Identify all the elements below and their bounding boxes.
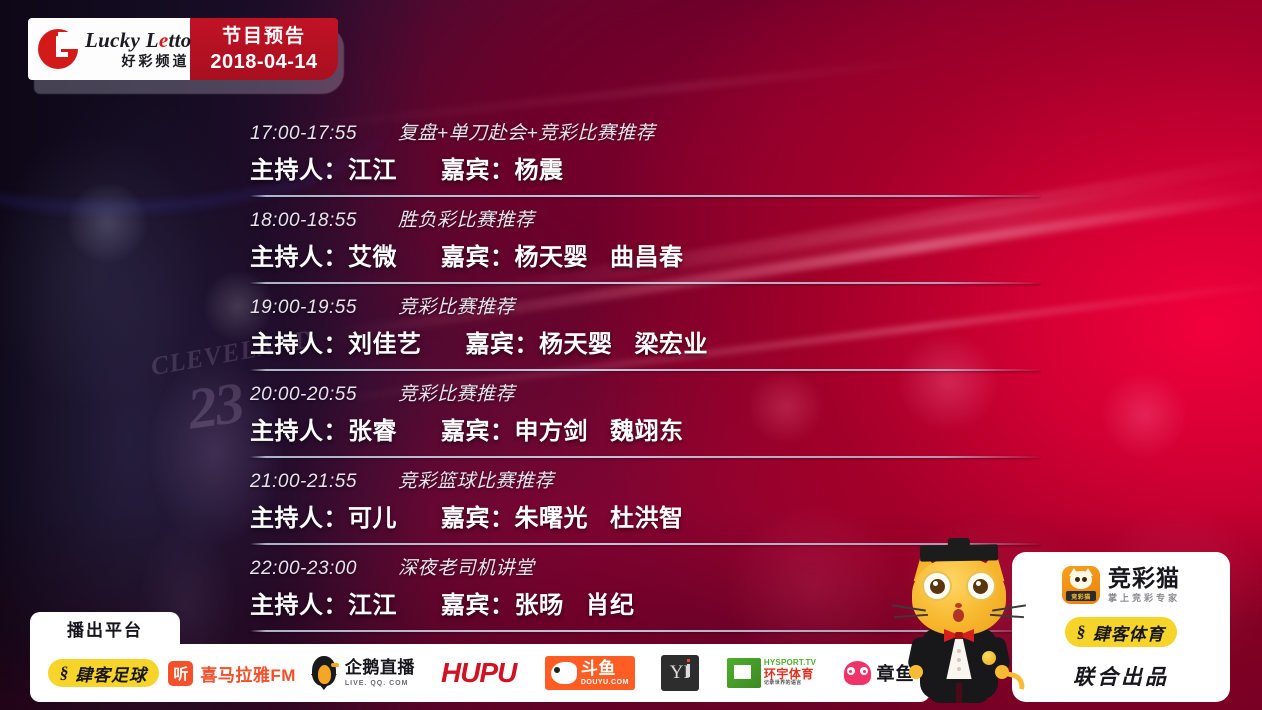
- yi-bar-icon: [687, 664, 690, 677]
- jingcaimao-icon-label: 竞彩猫: [1066, 591, 1096, 601]
- platform-logo-sike-football[interactable]: § 肆客足球: [44, 653, 163, 693]
- cat-paw-right: [995, 665, 1009, 679]
- row-time: 21:00-21:55: [250, 471, 368, 493]
- cat-mouth: [953, 609, 964, 622]
- platform-logo-hysport[interactable]: HYSPORT.TV 环宇体育 记录世界的语言: [715, 653, 828, 693]
- row-separator: [250, 195, 1040, 197]
- platform-logo-yi-sport[interactable]: YI: [645, 653, 715, 693]
- platform-logo-douyu[interactable]: 斗鱼 DOUYU.COM: [535, 653, 644, 693]
- sike-sports-label: 肆客体育: [1093, 620, 1165, 645]
- jersey-number: 23: [184, 369, 247, 443]
- row-program: 深夜老司机讲堂: [398, 558, 535, 579]
- row-separator: [250, 456, 1040, 458]
- cat-paw-left: [909, 665, 923, 679]
- sike-mark-icon: §: [1076, 622, 1087, 642]
- platform-logo-label: HUPU: [441, 657, 516, 689]
- row-guest-extra: 梁宏业: [635, 331, 709, 358]
- jingcaimao-name: 竞彩猫: [1108, 566, 1180, 591]
- schedule-row: 20:00-20:55竞彩比赛推荐 主持人：张睿嘉宾：申方剑魏翊东: [250, 379, 1040, 466]
- row-guests: 嘉宾：杨天婴: [441, 244, 588, 271]
- schedule-row: 18:00-18:55胜负彩比赛推荐 主持人：艾微嘉宾：杨天婴曲昌春: [250, 205, 1040, 292]
- platform-logo-sublabel: 记录世界的语言: [764, 681, 816, 687]
- row-program: 竞彩篮球比赛推荐: [398, 471, 554, 492]
- platform-tab-label: 播出平台: [67, 616, 143, 641]
- brand-en-part1: Lucky L: [85, 28, 159, 52]
- bow-tie-icon: [944, 629, 974, 642]
- badge-date: 2018-04-14: [210, 52, 317, 72]
- row-guest-extra: 魏翊东: [610, 418, 684, 445]
- schedule-row: 21:00-21:55竞彩篮球比赛推荐 主持人：可儿嘉宾：朱曙光杜洪智: [250, 466, 1040, 553]
- platform-logo-qie-live[interactable]: 企鹅直播 LIVE. QQ. COM: [302, 653, 422, 693]
- fish-icon: [551, 662, 577, 684]
- platform-logo-label: 企鹅直播: [345, 658, 415, 677]
- platform-tab: 播出平台: [30, 612, 180, 644]
- sike-mark-icon: §: [58, 663, 69, 683]
- row-separator: [250, 369, 1040, 371]
- cat-legs: [928, 679, 990, 703]
- cat-lapel-badge-icon: [982, 651, 996, 665]
- row-host: 主持人：江江: [250, 150, 397, 185]
- row-guest-extra: 杜洪智: [610, 505, 684, 532]
- row-time: 17:00-17:55: [250, 123, 368, 145]
- schedule-row: 19:00-19:55竞彩比赛推荐 主持人：刘佳艺嘉宾：杨天婴梁宏业: [250, 292, 1040, 379]
- cat-pupil-left: [930, 579, 945, 594]
- yi-dot-icon: [687, 659, 690, 662]
- row-guest-extra: 曲昌春: [610, 244, 684, 271]
- sike-sports-logo[interactable]: § 肆客体育: [1065, 617, 1177, 647]
- penguin-icon: [309, 656, 339, 690]
- jingcaimao-slogan: 掌上竞彩专家: [1108, 594, 1180, 604]
- brand-en-part2: tto: [168, 28, 191, 52]
- row-separator: [250, 282, 1040, 284]
- channel-logo-english: Lucky Letto: [85, 30, 192, 51]
- schedule-date-badge: 节目预告 2018-04-14: [190, 18, 338, 80]
- row-time: 20:00-20:55: [250, 384, 368, 406]
- row-time: 19:00-19:55: [250, 297, 368, 319]
- schedule-row: 17:00-17:55复盘+单刀赴会+竞彩比赛推荐 主持人：江江嘉宾：杨震: [250, 118, 1040, 205]
- pie-chart-logo-icon: [38, 29, 78, 69]
- cat-pupil-right: [973, 579, 988, 594]
- row-program: 竞彩比赛推荐: [398, 297, 515, 318]
- row-host: 主持人：张睿: [250, 411, 397, 446]
- octopus-icon: [844, 661, 871, 685]
- platform-logo-ximalaya-fm[interactable]: 听 喜马拉雅FM: [163, 653, 302, 693]
- jingcaimao-logo[interactable]: 竞彩猫 竞彩猫 掌上竞彩专家: [1062, 566, 1180, 604]
- platform-logo-label: 喜马拉雅FM: [200, 661, 296, 686]
- hysport-mark-icon: [727, 658, 761, 688]
- platform-logo-strip: § 肆客足球 听 喜马拉雅FM 企鹅直播 LIVE. QQ. COM: [30, 644, 930, 702]
- row-time: 22:00-23:00: [250, 558, 368, 580]
- row-time: 18:00-18:55: [250, 210, 368, 232]
- platform-logo-hupu[interactable]: HUPU: [422, 653, 535, 693]
- broadcast-platform-bar: 播出平台 § 肆客足球 听 喜马拉雅FM: [30, 612, 930, 702]
- badge-title: 节目预告: [222, 27, 306, 46]
- row-guests: 嘉宾：杨天婴: [466, 331, 613, 358]
- row-program: 胜负彩比赛推荐: [398, 210, 535, 231]
- brand-en-accent-letter: e: [159, 28, 169, 52]
- jingcaimao-app-icon: 竞彩猫: [1062, 566, 1100, 604]
- channel-logo: Lucky Letto 好彩频道: [28, 18, 190, 80]
- jingcaimao-cat-mascot: [898, 545, 1020, 710]
- cat-nose: [955, 603, 962, 608]
- tv-schedule-poster: CLEVELAND 23 Lucky Letto 好彩频道: [0, 0, 1262, 710]
- graduation-cap-icon: [920, 544, 998, 561]
- row-guests: 嘉宾：朱曙光: [441, 505, 588, 532]
- platform-logo-label: 肆客足球: [75, 661, 147, 686]
- cat-shirt-button: [957, 649, 961, 653]
- channel-logo-chinese: 好彩频道: [85, 54, 192, 68]
- united-production-label: 联合出品: [1073, 661, 1169, 691]
- sponsor-panel: 竞彩猫 竞彩猫 掌上竞彩专家 § 肆客体育 联合出品: [1012, 552, 1230, 702]
- platform-logo-label: 斗鱼: [581, 659, 616, 678]
- platform-logo-sublabel: DOUYU.COM: [581, 679, 629, 686]
- cat-shirt-button: [957, 667, 961, 671]
- row-program: 竞彩比赛推荐: [398, 384, 515, 405]
- cat-shirt-button: [957, 658, 961, 662]
- row-host: 主持人：刘佳艺: [250, 324, 422, 359]
- row-host: 主持人：艾微: [250, 237, 397, 272]
- platform-logo-sublabel: LIVE. QQ. COM: [345, 680, 415, 687]
- row-program: 复盘+单刀赴会+竞彩比赛推荐: [398, 123, 655, 144]
- row-host: 主持人：可儿: [250, 498, 397, 533]
- row-guests: 嘉宾：杨震: [441, 157, 564, 184]
- ximalaya-listen-icon: 听: [168, 661, 193, 686]
- header: Lucky Letto 好彩频道 节目预告 2018-04-14: [28, 18, 338, 80]
- row-guests: 嘉宾：申方剑: [441, 418, 588, 445]
